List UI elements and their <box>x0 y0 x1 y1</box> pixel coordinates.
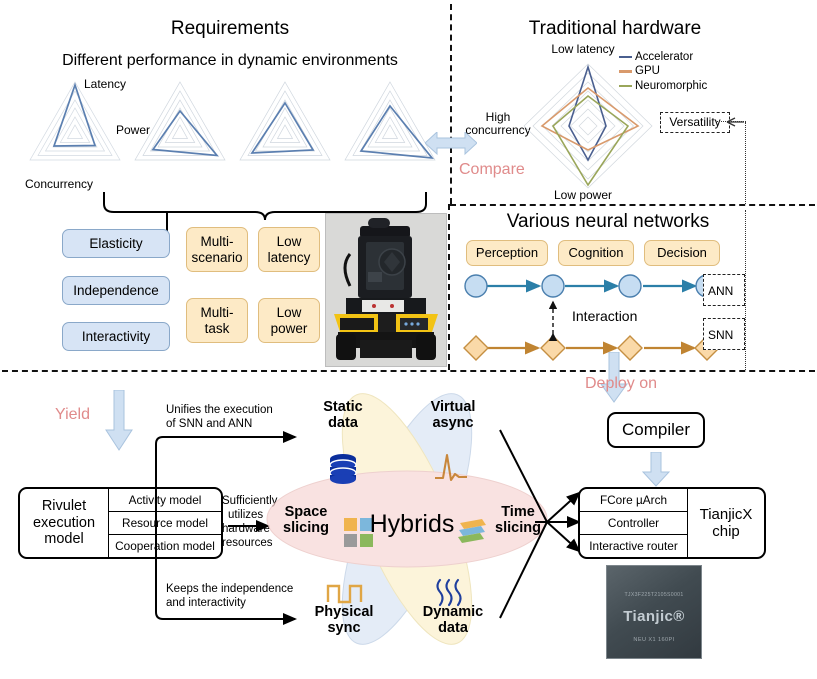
pill-multi-task-line1: Multi- <box>201 305 234 320</box>
requirements-title: Requirements <box>120 18 340 40</box>
petal-virtual-async-line2: async <box>414 416 492 432</box>
petal-static-data-line1: Static <box>304 400 382 416</box>
versatility-callout-line-horizontal <box>717 121 746 122</box>
pill-multi-task-line2: task <box>205 321 230 336</box>
pill-low-latency-line1: Low <box>277 234 302 249</box>
stage-box-cognition[interactable]: Cognition <box>558 240 634 266</box>
versatility-callout-line-vertical <box>745 122 746 204</box>
pill-multi-task[interactable]: Multi- task <box>186 298 248 343</box>
neural-networks-title: Various neural networks <box>478 211 738 233</box>
petal-dynamic-data-line2: data <box>412 621 494 637</box>
legend-label-accelerator: Accelerator <box>635 50 693 64</box>
legend-label-gpu: GPU <box>635 64 660 78</box>
pill-low-latency-line2: latency <box>268 250 311 265</box>
divider-horizontal-main <box>2 370 815 372</box>
ann-label-box: ANN <box>703 274 745 306</box>
chip-row-fcore[interactable]: FCore µArch <box>580 489 687 512</box>
rivulet-name-line3: model <box>44 531 84 548</box>
deploy-on-label: Deploy on <box>585 375 657 393</box>
chip-name-line2: chip <box>712 523 740 540</box>
divider-vertical-robot <box>448 204 450 370</box>
yield-arrow-icon <box>105 390 133 452</box>
label-unifies-line1: Unifies the execution <box>166 404 273 416</box>
requirements-subtitle: Different performance in dynamic environ… <box>35 52 425 70</box>
label-unifies-line2: of SNN and ANN <box>166 418 252 430</box>
label-sufficiently-line2: utilizes <box>228 509 263 521</box>
traditional-hardware-title: Traditional hardware <box>500 18 730 40</box>
pill-elasticity[interactable]: Elasticity <box>62 229 170 258</box>
divider-horizontal-upper-right <box>450 204 815 206</box>
pill-multi-scenario-line2: scenario <box>191 250 242 265</box>
radar-legend: Accelerator GPU Neuromorphic <box>619 50 749 93</box>
rivulet-name-line1: Rivulet <box>42 498 86 515</box>
stage-box-perception[interactable]: Perception <box>466 240 548 266</box>
snn-label-box: SNN <box>703 318 745 350</box>
petal-virtual-async-line1: Virtual <box>414 400 492 416</box>
chip-row-controller[interactable]: Controller <box>580 512 687 535</box>
compiler-box[interactable]: Compiler <box>607 412 705 448</box>
pill-interactivity[interactable]: Interactivity <box>62 322 170 351</box>
pill-low-power-line2: power <box>271 321 308 336</box>
rivulet-name-line2: execution <box>33 515 95 532</box>
robot-photo <box>325 213 447 367</box>
versatility-box: Versatility <box>660 112 730 133</box>
petal-space-slicing-line2: slicing <box>269 521 343 537</box>
tianjic-chip-photo: TJX3F225T2105S0001 Tianjic® NEU X1 160PI <box>606 565 702 659</box>
petal-label-space-slicing: Space slicing <box>269 505 343 537</box>
interaction-label: Interaction <box>572 308 637 324</box>
square-wave-icon <box>326 580 364 606</box>
legend-item-accelerator: Accelerator <box>619 50 749 64</box>
petal-space-slicing-line1: Space <box>269 505 343 521</box>
pill-low-latency[interactable]: Low latency <box>258 227 320 272</box>
petal-physical-sync-line1: Physical <box>303 605 385 621</box>
legend-swatch-accelerator <box>619 56 632 59</box>
petal-static-data-line2: data <box>304 416 382 432</box>
chip-photo-id-code: TJX3F225T2105S0001 <box>624 592 683 598</box>
compiler-to-chip-arrow-icon <box>642 452 670 488</box>
pill-multi-scenario[interactable]: Multi- scenario <box>186 227 248 272</box>
pill-independence[interactable]: Independence <box>62 276 170 305</box>
tianjicx-chip-box[interactable]: FCore µArch Controller Interactive route… <box>578 487 766 559</box>
petal-label-static-data: Static data <box>304 400 382 432</box>
chip-name-line1: TianjicX <box>700 506 753 523</box>
requirements-axis-power: Power <box>116 123 150 137</box>
neural-section-right-boundary <box>745 210 746 370</box>
hybrids-center-label: Hybrids <box>352 510 472 539</box>
legend-swatch-gpu <box>619 70 632 73</box>
requirements-axis-latency: Latency <box>84 77 126 91</box>
petal-physical-sync-line2: sync <box>303 621 385 637</box>
legend-item-gpu: GPU <box>619 64 749 78</box>
petal-label-physical-sync: Physical sync <box>303 605 385 637</box>
label-keeps-line2: and interactivity <box>166 597 246 609</box>
divider-vertical-top <box>450 4 452 204</box>
chip-photo-subcode: NEU X1 160PI <box>633 637 674 643</box>
legend-item-neuromorphic: Neuromorphic <box>619 79 749 93</box>
chip-row-interactive-router[interactable]: Interactive router <box>580 535 687 557</box>
legend-label-neuromorphic: Neuromorphic <box>635 79 707 93</box>
database-icon <box>326 453 360 485</box>
petal-dynamic-data-line1: Dynamic <box>412 605 494 621</box>
petal-label-dynamic-data: Dynamic data <box>412 605 494 637</box>
pill-low-power-line1: Low <box>277 305 302 320</box>
chip-photo-brand: Tianjic® <box>623 608 685 625</box>
pill-low-power[interactable]: Low power <box>258 298 320 343</box>
pill-multi-scenario-line1: Multi- <box>201 234 234 249</box>
hybrids-to-chip-connectors <box>495 425 585 625</box>
spike-waveform-icon <box>434 452 468 484</box>
legend-swatch-neuromorphic <box>619 85 632 88</box>
yield-label: Yield <box>55 406 90 424</box>
stage-box-decision[interactable]: Decision <box>644 240 720 266</box>
petal-label-virtual-async: Virtual async <box>414 400 492 432</box>
requirements-axis-concurrency: Concurrency <box>25 177 93 191</box>
